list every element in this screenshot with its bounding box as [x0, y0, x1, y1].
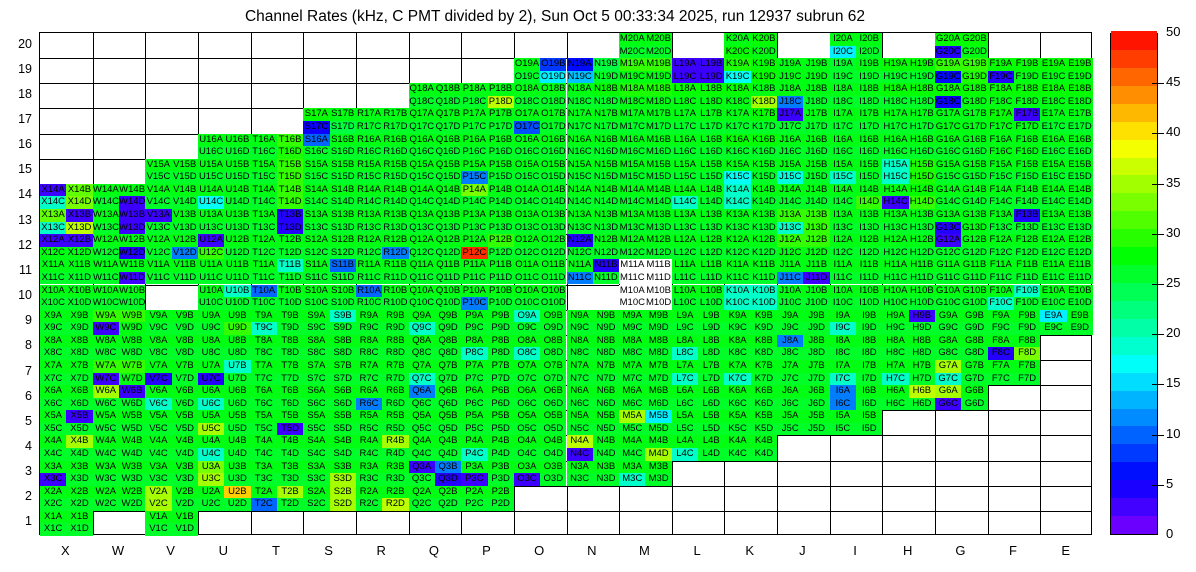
- channel-sub-cell: K10D: [751, 297, 777, 310]
- channel-sub-cell: M18C: [619, 96, 645, 109]
- channel-sub-cell: X2B: [66, 486, 92, 499]
- channel-sub-cell: J19C: [777, 71, 803, 84]
- channel-sub-cell: N5D: [593, 423, 619, 436]
- channel-sub-cell: I15C: [830, 171, 856, 184]
- channel-sub-cell: U13B: [224, 209, 250, 222]
- channel-sub-cell: K19B: [751, 58, 777, 71]
- channel-sub-cell: T13B: [277, 209, 303, 222]
- channel-sub-cell: H8A: [882, 335, 908, 348]
- channel-sub-cell: E12D: [1067, 247, 1093, 260]
- channel-sub-cell: T2B: [277, 486, 303, 499]
- channel-sub-cell: V4C: [145, 448, 171, 461]
- channel-sub-cell: Q5B: [435, 410, 461, 423]
- channel-sub-cell: P13A: [461, 209, 487, 222]
- channel-sub-cell: X6A: [40, 385, 66, 398]
- y-axis-tick-label: 7: [2, 364, 32, 378]
- heatmap-cell: R13AR13BR13CR13D: [356, 209, 409, 234]
- channel-sub-cell: G11B: [961, 259, 987, 272]
- channel-sub-cell: G16D: [961, 146, 987, 159]
- channel-sub-cell: W10B: [119, 285, 145, 298]
- channel-sub-cell: U8A: [198, 335, 224, 348]
- channel-sub-cell: N7D: [593, 373, 619, 386]
- heatmap-cell: J12AJ12BJ12CJ12D: [777, 234, 830, 259]
- channel-sub-cell: U3C: [198, 473, 224, 486]
- heatmap-cell: G16AG16BG16CG16D: [935, 134, 988, 159]
- channel-sub-cell: F19C: [988, 71, 1014, 84]
- channel-sub-cell: W6B: [119, 385, 145, 398]
- channel-sub-cell: P3D: [488, 473, 514, 486]
- channel-sub-cell: H11A: [882, 259, 908, 272]
- heatmap-cell: N18AN18BN18CN18D: [567, 83, 620, 108]
- channel-sub-cell: X5A: [40, 410, 66, 423]
- channel-sub-cell: T11C: [251, 272, 277, 285]
- channel-sub-cell: G9B: [961, 310, 987, 323]
- palette-band: [1111, 498, 1157, 517]
- channel-sub-cell: J10C: [777, 297, 803, 310]
- channel-sub-cell: O16C: [514, 146, 540, 159]
- channel-sub-cell: L4A: [672, 435, 698, 448]
- channel-sub-cell: X11A: [40, 259, 66, 272]
- heatmap-cell: W11AW11BW11CW11D: [93, 259, 146, 284]
- channel-sub-cell: N18B: [593, 83, 619, 96]
- heatmap-cell: F16AF16BF16CF16D: [988, 134, 1041, 159]
- heatmap-cell: O8AO8BO8CO8D: [514, 335, 567, 360]
- x-axis-tick-label: I: [828, 543, 882, 558]
- channel-sub-cell: H6B: [909, 385, 935, 398]
- channel-sub-cell: T7A: [251, 360, 277, 373]
- channel-sub-cell: P11D: [488, 272, 514, 285]
- channel-sub-cell: T13C: [251, 222, 277, 235]
- channel-sub-cell: T16B: [277, 134, 303, 147]
- channel-sub-cell: N19D: [593, 71, 619, 84]
- channel-sub-cell: M8A: [619, 335, 645, 348]
- channel-sub-cell: M5B: [645, 410, 671, 423]
- heatmap-plot-area: M20AM20BM20CM20DK20AK20BK20CK20DI20AI20B…: [39, 32, 1092, 535]
- channel-sub-cell: N18C: [567, 96, 593, 109]
- channel-sub-cell: R2A: [356, 486, 382, 499]
- channel-sub-cell: U12D: [224, 247, 250, 260]
- channel-sub-cell: N8C: [567, 347, 593, 360]
- heatmap-cell: X2AX2BX2CX2D: [40, 486, 93, 511]
- heatmap-cell: O11AO11BO11CO11D: [514, 259, 567, 284]
- heatmap-cell: W10AW10BW10CW10D: [93, 285, 146, 310]
- channel-sub-cell: O7C: [514, 373, 540, 386]
- channel-sub-cell: V5C: [145, 423, 171, 436]
- channel-sub-cell: F13D: [1014, 222, 1040, 235]
- palette-band: [1111, 354, 1157, 373]
- channel-sub-cell: I17B: [856, 108, 882, 121]
- heatmap-cell: P10AP10BP10CP10D: [461, 285, 514, 310]
- channel-sub-cell: R13B: [382, 209, 408, 222]
- channel-sub-cell: X5C: [40, 423, 66, 436]
- channel-sub-cell: J7B: [803, 360, 829, 373]
- channel-sub-cell: R8C: [356, 347, 382, 360]
- heatmap-cell: H15AH15BH15CH15D: [882, 159, 935, 184]
- channel-sub-cell: I20B: [856, 33, 882, 46]
- heatmap-cell: M9AM9BM9CM9D: [619, 310, 672, 335]
- heatmap-cell: G14AG14BG14CG14D: [935, 184, 988, 209]
- heatmap-cell: H8AH8BH8CH8D: [882, 335, 935, 360]
- channel-sub-cell: U10B: [224, 285, 250, 298]
- heatmap-cell: T2AT2BT2CT2D: [251, 486, 304, 511]
- channel-sub-cell: I13D: [856, 222, 882, 235]
- channel-sub-cell: J12A: [777, 234, 803, 247]
- channel-sub-cell: S14B: [330, 184, 356, 197]
- channel-sub-cell: J13B: [803, 209, 829, 222]
- channel-sub-cell: G18A: [935, 83, 961, 96]
- channel-sub-cell: E15B: [1067, 159, 1093, 172]
- channel-sub-cell: K17D: [751, 121, 777, 134]
- channel-sub-cell: T8B: [277, 335, 303, 348]
- channel-sub-cell: F14B: [1014, 184, 1040, 197]
- channel-sub-cell: U2D: [224, 498, 250, 511]
- heatmap-cell: J10AJ10BJ10CJ10D: [777, 285, 830, 310]
- channel-sub-cell: V1C: [145, 523, 171, 536]
- heatmap-cell: Q14AQ14BQ14CQ14D: [409, 184, 462, 209]
- heatmap-cell: J11AJ11BJ11CJ11D: [777, 259, 830, 284]
- channel-sub-cell: L14A: [672, 184, 698, 197]
- channel-sub-cell: R10A: [356, 285, 382, 298]
- channel-sub-cell: V13C: [145, 222, 171, 235]
- channel-sub-cell: T16A: [251, 134, 277, 147]
- channel-sub-cell: S9C: [303, 322, 329, 335]
- channel-sub-cell: H14D: [909, 196, 935, 209]
- channel-sub-cell: V12B: [172, 234, 198, 247]
- channel-sub-cell: N7A: [567, 360, 593, 373]
- channel-sub-cell: F15A: [988, 159, 1014, 172]
- channel-sub-cell: U12B: [224, 234, 250, 247]
- channel-sub-cell: O6B: [540, 385, 566, 398]
- heatmap-cell: K8AK8BK8CK8D: [724, 335, 777, 360]
- channel-sub-cell: Q16B: [435, 134, 461, 147]
- palette-tick: [1152, 435, 1164, 436]
- heatmap-cell: U6AU6BU6CU6D: [198, 385, 251, 410]
- palette-band: [1111, 372, 1157, 391]
- channel-sub-cell: K9D: [751, 322, 777, 335]
- heatmap-cell: I12AI12BI12CI12D: [830, 234, 883, 259]
- channel-sub-cell: S3D: [330, 473, 356, 486]
- heatmap-cell: X7AX7BX7CX7D: [40, 360, 93, 385]
- channel-sub-cell: O11A: [514, 259, 540, 272]
- heatmap-cell: H19AH19BH19CH19D: [882, 58, 935, 83]
- heatmap-cell: X6AX6BX6CX6D: [40, 385, 93, 410]
- heatmap-cell: N13AN13BN13CN13D: [567, 209, 620, 234]
- channel-sub-cell: I19B: [856, 58, 882, 71]
- channel-sub-cell: X11B: [66, 259, 92, 272]
- heatmap-cell: O14AO14BO14CO14D: [514, 184, 567, 209]
- channel-sub-cell: R13C: [356, 222, 382, 235]
- channel-sub-cell: K12B: [751, 234, 777, 247]
- heatmap-cell: W12AW12BW12CW12D: [93, 234, 146, 259]
- channel-sub-cell: V3B: [172, 461, 198, 474]
- channel-sub-cell: Q2C: [409, 498, 435, 511]
- channel-sub-cell: Q3D: [435, 473, 461, 486]
- channel-sub-cell: W10C: [93, 297, 119, 310]
- heatmap-cell: V4AV4BV4CV4D: [145, 435, 198, 460]
- channel-sub-cell: N7B: [593, 360, 619, 373]
- channel-sub-cell: F9A: [988, 310, 1014, 323]
- channel-sub-cell: X11C: [40, 272, 66, 285]
- heatmap-cell: I20AI20BI20CI20D: [830, 33, 883, 58]
- channel-sub-cell: Q14D: [435, 196, 461, 209]
- heatmap-cell: L18AL18BL18CL18D: [672, 83, 725, 108]
- channel-sub-cell: G7C: [935, 373, 961, 386]
- channel-sub-cell: E13A: [1040, 209, 1066, 222]
- channel-sub-cell: G8A: [935, 335, 961, 348]
- heatmap-cell: O17AO17BO17CO17D: [514, 108, 567, 133]
- channel-sub-cell: P11A: [461, 259, 487, 272]
- channel-sub-cell: P5A: [461, 410, 487, 423]
- channel-sub-cell: X14C: [40, 196, 66, 209]
- channel-sub-cell: N12A: [567, 234, 593, 247]
- heatmap-cell: F14AF14BF14CF14D: [988, 184, 1041, 209]
- channel-sub-cell: N8B: [593, 335, 619, 348]
- channel-sub-cell: M4B: [645, 435, 671, 448]
- channel-sub-cell: N13C: [567, 222, 593, 235]
- channel-sub-cell: J9A: [777, 310, 803, 323]
- heatmap-cell: M8AM8BM8CM8D: [619, 335, 672, 360]
- channel-sub-cell: T2A: [251, 486, 277, 499]
- channel-sub-cell: E15D: [1067, 171, 1093, 184]
- channel-sub-cell: O11C: [514, 272, 540, 285]
- channel-sub-cell: W7B: [119, 360, 145, 373]
- channel-sub-cell: T13A: [251, 209, 277, 222]
- channel-sub-cell: L8B: [698, 335, 724, 348]
- channel-sub-cell: X10D: [66, 297, 92, 310]
- palette-tick: [1152, 384, 1164, 385]
- channel-sub-cell: G10D: [961, 297, 987, 310]
- channel-sub-cell: W2C: [93, 498, 119, 511]
- channel-sub-cell: P18A: [461, 83, 487, 96]
- channel-sub-cell: R3C: [356, 473, 382, 486]
- channel-sub-cell: K6B: [751, 385, 777, 398]
- channel-sub-cell: K11B: [751, 259, 777, 272]
- channel-sub-cell: K19D: [751, 71, 777, 84]
- channel-sub-cell: F8B: [1014, 335, 1040, 348]
- channel-sub-cell: V11C: [145, 272, 171, 285]
- channel-sub-cell: H14C: [882, 196, 908, 209]
- heatmap-cell: I8AI8BI8CI8D: [830, 335, 883, 360]
- channel-sub-cell: O19B: [540, 58, 566, 71]
- heatmap-cell: L6AL6BL6CL6D: [672, 385, 725, 410]
- channel-sub-cell: U13A: [198, 209, 224, 222]
- channel-sub-cell: F16C: [988, 146, 1014, 159]
- channel-sub-cell: J12D: [803, 247, 829, 260]
- channel-sub-cell: O3C: [514, 473, 540, 486]
- channel-sub-cell: U7A: [198, 360, 224, 373]
- channel-sub-cell: F12C: [988, 247, 1014, 260]
- channel-sub-cell: W3A: [93, 461, 119, 474]
- heatmap-cell: Q7AQ7BQ7CQ7D: [409, 360, 462, 385]
- channel-sub-cell: M6B: [645, 385, 671, 398]
- channel-sub-cell: P16A: [461, 134, 487, 147]
- channel-sub-cell: E18D: [1067, 96, 1093, 109]
- channel-sub-cell: N7C: [567, 373, 593, 386]
- channel-sub-cell: U9B: [224, 310, 250, 323]
- channel-sub-cell: Q5C: [409, 423, 435, 436]
- channel-sub-cell: M10A: [619, 285, 645, 298]
- channel-sub-cell: T6A: [251, 385, 277, 398]
- channel-sub-cell: S2D: [330, 498, 356, 511]
- channel-sub-cell: K7D: [751, 373, 777, 386]
- channel-sub-cell: F10C: [988, 297, 1014, 310]
- heatmap-cell: M18AM18BM18CM18D: [619, 83, 672, 108]
- channel-sub-cell: R10C: [356, 297, 382, 310]
- channel-sub-cell: G11A: [935, 259, 961, 272]
- heatmap-cell: K6AK6BK6CK6D: [724, 385, 777, 410]
- channel-sub-cell: L13D: [698, 222, 724, 235]
- heatmap-cell: V9AV9BV9CV9D: [145, 310, 198, 335]
- heatmap-cell: M16AM16BM16CM16D: [619, 134, 672, 159]
- channel-sub-cell: S13C: [303, 222, 329, 235]
- heatmap-cell: P2AP2BP2CP2D: [461, 486, 514, 511]
- channel-sub-cell: S3A: [303, 461, 329, 474]
- channel-sub-cell: K19C: [724, 71, 750, 84]
- channel-sub-cell: T6D: [277, 398, 303, 411]
- channel-sub-cell: L17C: [672, 121, 698, 134]
- channel-sub-cell: I5C: [830, 423, 856, 436]
- channel-sub-cell: R14A: [356, 184, 382, 197]
- channel-sub-cell: R3D: [382, 473, 408, 486]
- heatmap-cell: T3AT3BT3CT3D: [251, 461, 304, 486]
- channel-sub-cell: U11D: [224, 272, 250, 285]
- heatmap-cell: R11AR11BR11CR11D: [356, 259, 409, 284]
- channel-sub-cell: E17A: [1040, 108, 1066, 121]
- channel-sub-cell: Q7D: [435, 373, 461, 386]
- channel-sub-cell: V11A: [145, 259, 171, 272]
- y-axis-tick-label: 15: [2, 162, 32, 176]
- y-axis-tick-label: 2: [2, 489, 32, 503]
- channel-sub-cell: X4C: [40, 448, 66, 461]
- channel-sub-cell: G8D: [961, 347, 987, 360]
- channel-sub-cell: I14B: [856, 184, 882, 197]
- heatmap-cell: M11AM11BM11CM11D: [619, 259, 672, 284]
- heatmap-cell: P3AP3BP3CP3D: [461, 461, 514, 486]
- channel-sub-cell: X8B: [66, 335, 92, 348]
- channel-sub-cell: U14C: [198, 196, 224, 209]
- heatmap-cell: S17AS17BS17CS17D: [303, 108, 356, 133]
- heatmap-cell: J15AJ15BJ15CJ15D: [777, 159, 830, 184]
- heatmap-cell: Q8AQ8BQ8CQ8D: [409, 335, 462, 360]
- channel-sub-cell: J10A: [777, 285, 803, 298]
- channel-sub-cell: F14A: [988, 184, 1014, 197]
- channel-sub-cell: W12C: [93, 247, 119, 260]
- channel-sub-cell: F11C: [988, 272, 1014, 285]
- heatmap-cell: H7AH7BH7CH7D: [882, 360, 935, 385]
- channel-sub-cell: W11D: [119, 272, 145, 285]
- channel-sub-cell: V3C: [145, 473, 171, 486]
- heatmap-cell: H6AH6BH6CH6D: [882, 385, 935, 410]
- channel-sub-cell: H16D: [909, 146, 935, 159]
- channel-sub-cell: J19A: [777, 58, 803, 71]
- heatmap-cell: I9AI9BI9CI9D: [830, 310, 883, 335]
- heatmap-cell: L8AL8BL8CL8D: [672, 335, 725, 360]
- channel-sub-cell: M12C: [619, 247, 645, 260]
- channel-sub-cell: Q12C: [409, 247, 435, 260]
- channel-sub-cell: Q9D: [435, 322, 461, 335]
- channel-sub-cell: M10B: [645, 285, 671, 298]
- heatmap-cell: Q11AQ11BQ11CQ11D: [409, 259, 462, 284]
- heatmap-cell: H9AH9BH9CH9D: [882, 310, 935, 335]
- channel-sub-cell: L18B: [698, 83, 724, 96]
- channel-sub-cell: N14B: [593, 184, 619, 197]
- channel-sub-cell: N16B: [593, 134, 619, 147]
- channel-sub-cell: U16D: [224, 146, 250, 159]
- channel-sub-cell: H7D: [909, 373, 935, 386]
- channel-sub-cell: O15C: [514, 171, 540, 184]
- heatmap-cell: Q15AQ15BQ15CQ15D: [409, 159, 462, 184]
- channel-sub-cell: T3D: [277, 473, 303, 486]
- heatmap-cell: R3AR3BR3CR3D: [356, 461, 409, 486]
- channel-sub-cell: J15A: [777, 159, 803, 172]
- channel-sub-cell: K10C: [724, 297, 750, 310]
- channel-sub-cell: T4A: [251, 435, 277, 448]
- channel-sub-cell: N8A: [567, 335, 593, 348]
- channel-sub-cell: L18A: [672, 83, 698, 96]
- heatmap-cell: V1AV1BV1CV1D: [145, 511, 198, 536]
- channel-sub-cell: S16B: [330, 134, 356, 147]
- channel-sub-cell: J15B: [803, 159, 829, 172]
- channel-sub-cell: R3A: [356, 461, 382, 474]
- heatmap-cell: W14AW14BW14CW14D: [93, 184, 146, 209]
- channel-sub-cell: K11C: [724, 272, 750, 285]
- palette-band: [1111, 480, 1157, 499]
- channel-sub-cell: T10D: [277, 297, 303, 310]
- channel-sub-cell: P5B: [488, 410, 514, 423]
- channel-sub-cell: J6C: [777, 398, 803, 411]
- channel-sub-cell: W7D: [119, 373, 145, 386]
- heatmap-cell: R5AR5BR5CR5D: [356, 410, 409, 435]
- channel-sub-cell: V5A: [145, 410, 171, 423]
- channel-sub-cell: R11D: [382, 272, 408, 285]
- channel-sub-cell: E10C: [1040, 297, 1066, 310]
- channel-sub-cell: I19C: [830, 71, 856, 84]
- channel-sub-cell: X5B: [66, 410, 92, 423]
- channel-sub-cell: I9D: [856, 322, 882, 335]
- channel-sub-cell: I7A: [830, 360, 856, 373]
- channel-sub-cell: L9C: [672, 322, 698, 335]
- channel-sub-cell: W9A: [93, 310, 119, 323]
- channel-sub-cell: N5B: [593, 410, 619, 423]
- channel-sub-cell: N14A: [567, 184, 593, 197]
- channel-sub-cell: G15A: [935, 159, 961, 172]
- channel-sub-cell: U11C: [198, 272, 224, 285]
- heatmap-cell: F9AF9BF9CF9D: [988, 310, 1041, 335]
- channel-sub-cell: V14D: [172, 196, 198, 209]
- channel-sub-cell: P7D: [488, 373, 514, 386]
- palette-tick-label: 20: [1166, 325, 1180, 340]
- channel-sub-cell: T15A: [251, 159, 277, 172]
- channel-sub-cell: S14D: [330, 196, 356, 209]
- channel-sub-cell: V14B: [172, 184, 198, 197]
- channel-sub-cell: Q9C: [409, 322, 435, 335]
- channel-sub-cell: G18C: [935, 96, 961, 109]
- channel-sub-cell: U11B: [224, 259, 250, 272]
- heatmap-cell: T14AT14BT14CT14D: [251, 184, 304, 209]
- channel-sub-cell: X13C: [40, 222, 66, 235]
- channel-sub-cell: L13B: [698, 209, 724, 222]
- channel-sub-cell: O12A: [514, 234, 540, 247]
- channel-sub-cell: R4D: [382, 448, 408, 461]
- heatmap-cell: E10AE10BE10CE10D: [1040, 285, 1093, 310]
- heatmap-cell: I19AI19BI19CI19D: [830, 58, 883, 83]
- channel-sub-cell: O18C: [514, 96, 540, 109]
- channel-sub-cell: O5B: [540, 410, 566, 423]
- heatmap-cell: H12AH12BH12CH12D: [882, 234, 935, 259]
- heatmap-cell: H11AH11BH11CH11D: [882, 259, 935, 284]
- heatmap-cell: K20AK20BK20CK20D: [724, 33, 777, 58]
- channel-sub-cell: O9D: [540, 322, 566, 335]
